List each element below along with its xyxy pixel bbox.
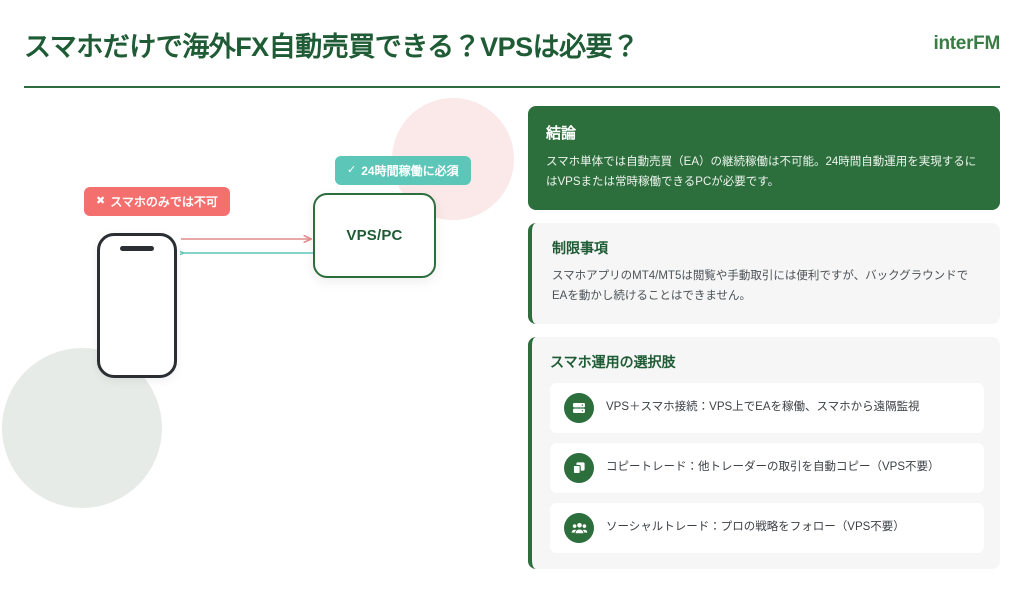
list-item[interactable]: コピートレード：他トレーダーの取引を自動コピー（VPS不要） bbox=[550, 443, 984, 493]
card-conclusion: 結論 スマホ単体では自動売買（EA）の継続稼働は不可能。24時間自動運用を実現す… bbox=[528, 106, 1000, 210]
list-item-label: VPS＋スマホ接続：VPS上でEAを稼働、スマホから遠隔監視 bbox=[606, 399, 920, 415]
page-title: スマホだけで海外FX自動売買できる？VPSは必要？ bbox=[24, 25, 639, 64]
card-conclusion-body: スマホ単体では自動売買（EA）の継続稼働は不可能。24時間自動運用を実現するには… bbox=[546, 152, 982, 192]
check-icon: ✓ bbox=[347, 165, 356, 176]
card-limitation: 制限事項 スマホアプリのMT4/MT5は閲覧や手動取引には便利ですが、バックグラ… bbox=[528, 223, 1000, 323]
badge-need-label: 24時間稼働に必須 bbox=[361, 162, 458, 179]
card-options-title: スマホ運用の選択肢 bbox=[550, 352, 984, 372]
architecture-diagram: ✖ スマホのみでは不可 ✓ 24時間稼働に必須 VPS/PC bbox=[0, 88, 520, 594]
card-limitation-body: スマホアプリのMT4/MT5は閲覧や手動取引には便利ですが、バックグラウンドでE… bbox=[552, 266, 982, 306]
cross-icon: ✖ bbox=[96, 196, 105, 207]
badge-smartphone-only-not-possible: ✖ スマホのみでは不可 bbox=[84, 187, 230, 216]
info-panel: 結論 スマホ単体では自動売買（EA）の継続稼働は不可能。24時間自動運用を実現す… bbox=[528, 106, 1000, 582]
brand-logo: interFM bbox=[933, 33, 1000, 55]
server-icon bbox=[564, 393, 594, 423]
users-icon bbox=[564, 513, 594, 543]
badge-required-24h: ✓ 24時間稼働に必須 bbox=[335, 156, 471, 185]
vps-pc-node: VPS/PC bbox=[313, 193, 436, 278]
page-header: スマホだけで海外FX自動売買できる？VPSは必要？ interFM bbox=[0, 0, 1024, 88]
list-item-label: ソーシャルトレード：プロの戦略をフォロー（VPS不要） bbox=[606, 519, 905, 535]
smartphone-shape bbox=[97, 233, 177, 378]
list-item-label: コピートレード：他トレーダーの取引を自動コピー（VPS不要） bbox=[606, 459, 940, 475]
phone-speaker-icon bbox=[120, 246, 154, 251]
card-options: スマホ運用の選択肢 VPS＋スマホ接続：VPS上でEAを稼働、スマホから遠隔監視 bbox=[528, 337, 1000, 569]
copy-icon bbox=[564, 453, 594, 483]
badge-deny-label: スマホのみでは不可 bbox=[110, 193, 218, 210]
list-item[interactable]: VPS＋スマホ接続：VPS上でEAを稼働、スマホから遠隔監視 bbox=[550, 383, 984, 433]
card-limitation-title: 制限事項 bbox=[552, 238, 982, 258]
card-conclusion-title: 結論 bbox=[546, 122, 982, 143]
vps-pc-label: VPS/PC bbox=[346, 227, 402, 244]
list-item[interactable]: ソーシャルトレード：プロの戦略をフォロー（VPS不要） bbox=[550, 503, 984, 553]
connection-arrows bbox=[180, 228, 320, 268]
